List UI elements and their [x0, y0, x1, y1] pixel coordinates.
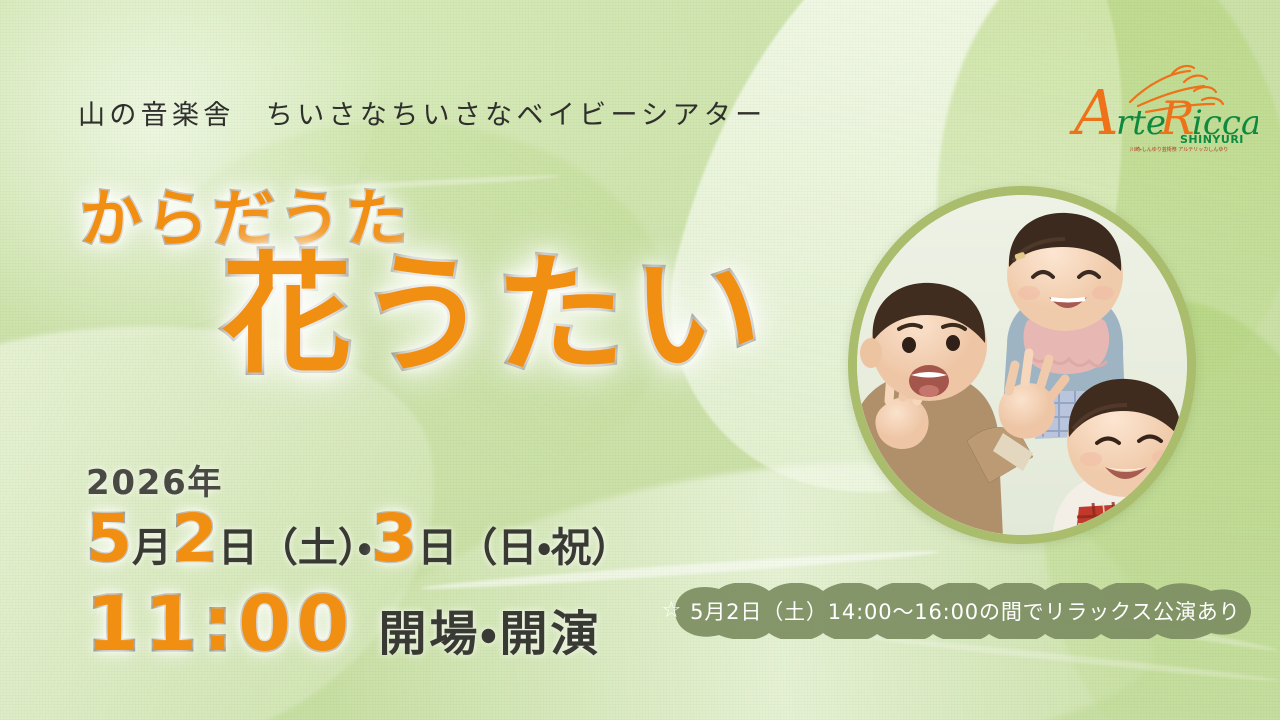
main-title: 花うたい	[222, 250, 768, 380]
day2-unit: 日（日・祝）	[417, 528, 631, 568]
start-time: 11:00	[86, 586, 355, 662]
babies-photo	[848, 186, 1196, 544]
relax-note: 5月2日（土）14:00〜16:00の間でリラックス公演あり	[690, 596, 1240, 626]
relax-performance-banner: ☆ 5月2日（土）14:00〜16:00の間でリラックス公演あり	[645, 583, 1257, 639]
series-kicker: 山の音楽舎 ちいさなちいさなベイビーシアター	[78, 93, 767, 132]
banner-text-row: ☆ 5月2日（土）14:00〜16:00の間でリラックス公演あり	[645, 583, 1257, 639]
logo-fine-print: 川崎・しんゆり芸術祭 アルテリッカしんゆり	[1130, 146, 1228, 152]
schedule-block: 2026年 5 月 2 日（土）・ 3 日（日・祝） 11:00 開場・開演	[86, 455, 631, 662]
day1-number: 2	[172, 506, 218, 572]
date-line: 5 月 2 日（土）・ 3 日（日・祝）	[86, 506, 631, 572]
day1-unit: 日（土）・	[218, 528, 372, 568]
photo-clip	[857, 195, 1187, 535]
arte-ricca-logo[interactable]: A rte R icca SHINYURI 川崎・しんゆり芸術祭 アルテリッカし…	[1068, 62, 1258, 152]
day2-number: 3	[371, 506, 417, 572]
time-label: 開場・開演	[379, 610, 602, 658]
logo-letter-a: A	[1069, 76, 1119, 149]
logo-subtitle: SHINYURI	[1180, 133, 1244, 146]
poster-canvas: 山の音楽舎 ちいさなちいさなベイビーシアター A rte R icca SHI	[0, 0, 1280, 720]
logo-word-rte: rte	[1116, 103, 1166, 143]
star-icon: ☆	[662, 600, 683, 622]
month-number: 5	[86, 506, 132, 572]
year-label: 2026年	[86, 455, 631, 504]
time-line: 11:00 開場・開演	[86, 586, 631, 662]
month-unit: 月	[132, 528, 172, 568]
